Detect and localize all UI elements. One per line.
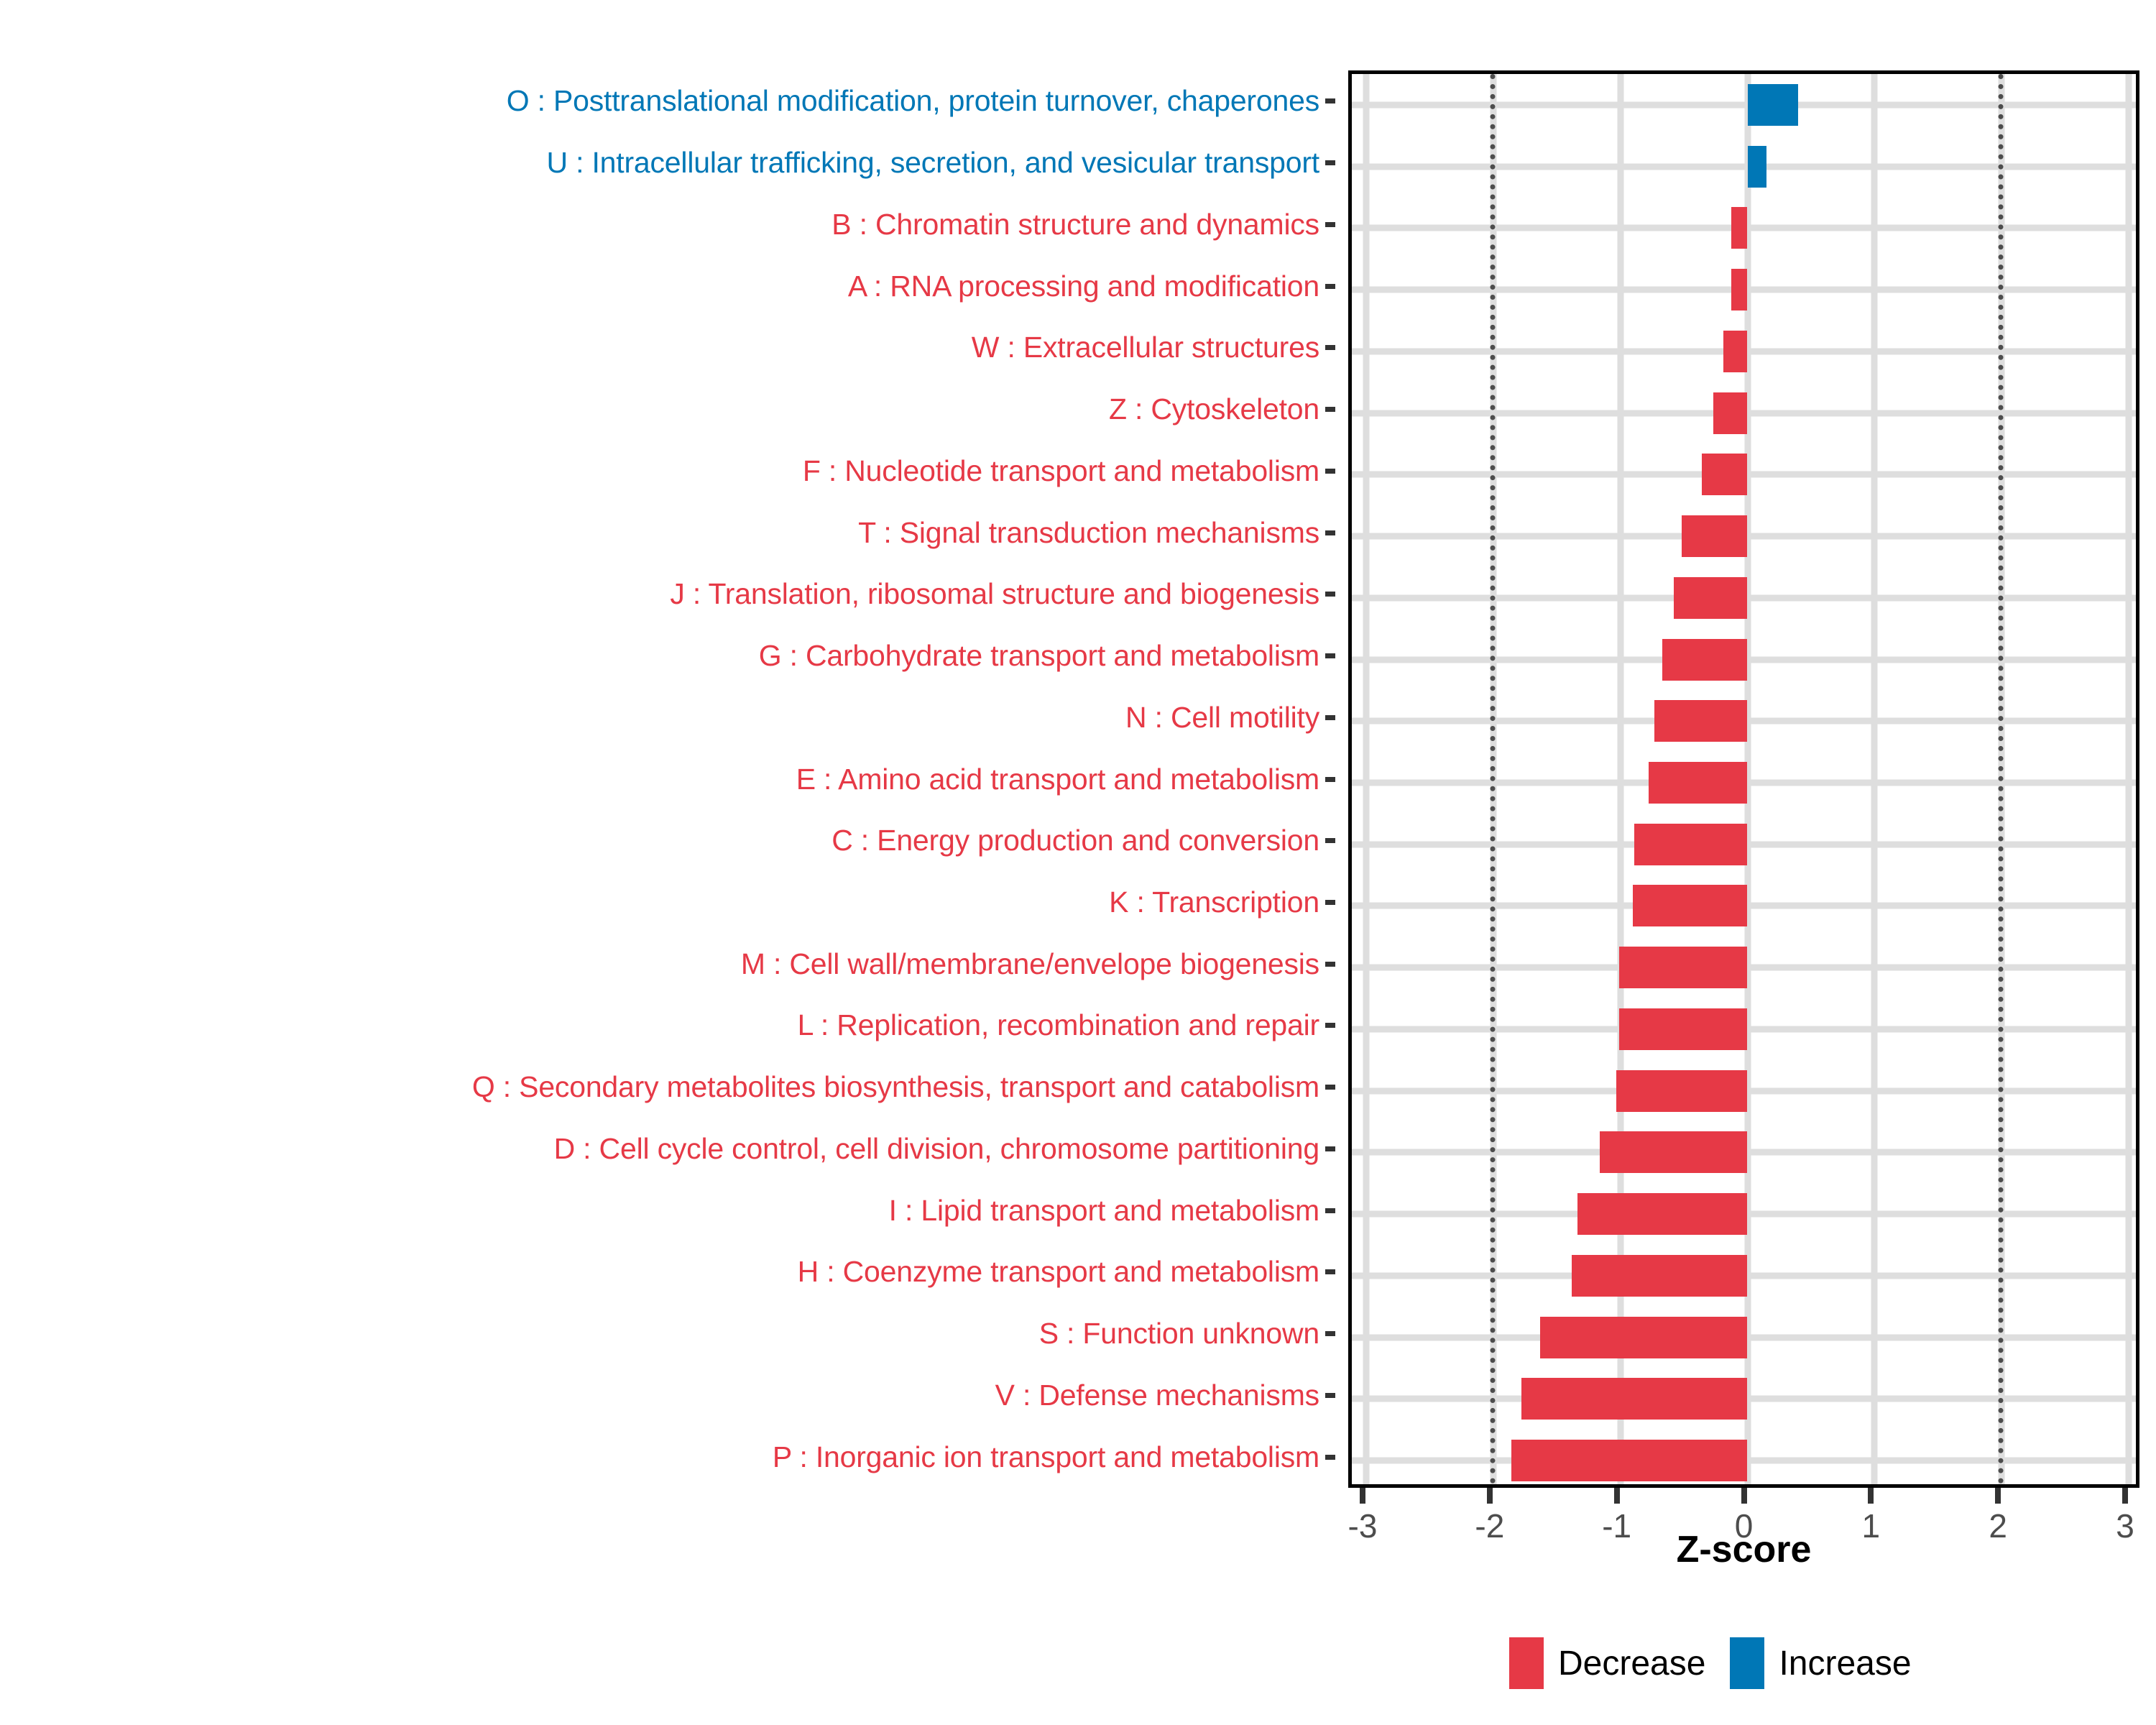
vertical-gridline (1871, 74, 1878, 1484)
bar[interactable] (1619, 1008, 1748, 1050)
bar[interactable] (1654, 700, 1747, 742)
legend-swatch-icon (1509, 1637, 1544, 1689)
chart-root: O : Posttranslational modification, prot… (0, 0, 2156, 1725)
bar[interactable] (1600, 1131, 1747, 1173)
y-axis-tick (1325, 1208, 1335, 1213)
reference-line (1490, 74, 1495, 1484)
y-axis-tick (1325, 469, 1335, 474)
x-axis-tick (1487, 1488, 1493, 1504)
legend-item[interactable]: Decrease (1509, 1637, 1705, 1689)
category-label: Z : Cytoskeleton (1109, 379, 1319, 440)
bar[interactable] (1748, 146, 1767, 188)
y-axis-tick (1325, 900, 1335, 905)
x-axis-tick (1614, 1488, 1620, 1504)
category-label: W : Extracellular structures (972, 317, 1319, 378)
bar[interactable] (1713, 392, 1748, 434)
category-label: L : Replication, recombination and repai… (798, 995, 1319, 1056)
y-axis-tick (1325, 1146, 1335, 1151)
category-label: U : Intracellular trafficking, secretion… (546, 132, 1319, 193)
vertical-gridline (1363, 74, 1370, 1484)
y-axis-tick (1325, 962, 1335, 967)
x-axis-tick (1868, 1488, 1874, 1504)
bar[interactable] (1572, 1255, 1747, 1297)
category-axis-labels: O : Posttranslational modification, prot… (0, 70, 1335, 1488)
category-label: V : Defense mechanisms (995, 1365, 1319, 1426)
bar[interactable] (1649, 762, 1748, 804)
bar[interactable] (1723, 331, 1748, 372)
category-label: I : Lipid transport and metabolism (889, 1180, 1319, 1241)
x-axis-tick (1995, 1488, 2001, 1504)
category-label: P : Inorganic ion transport and metaboli… (773, 1427, 1319, 1488)
y-axis-tick (1325, 1023, 1335, 1028)
y-axis-tick (1325, 160, 1335, 165)
y-axis-tick (1325, 1393, 1335, 1398)
bar[interactable] (1682, 515, 1748, 557)
y-axis-tick (1325, 530, 1335, 535)
bar[interactable] (1731, 269, 1748, 310)
bar[interactable] (1634, 824, 1747, 865)
y-axis-tick (1325, 592, 1335, 597)
x-axis-title: Z-score (1348, 1528, 2139, 1571)
category-label: C : Energy production and conversion (831, 810, 1319, 871)
category-label: J : Translation, ribosomal structure and… (670, 563, 1319, 625)
y-axis-tick (1325, 777, 1335, 782)
bar[interactable] (1662, 639, 1747, 681)
x-axis-tick (2122, 1488, 2128, 1504)
plot-panel (1348, 70, 2139, 1488)
category-label: K : Transcription (1109, 872, 1319, 933)
bar[interactable] (1521, 1378, 1748, 1420)
category-label: G : Carbohydrate transport and metabolis… (759, 625, 1319, 686)
bar[interactable] (1540, 1317, 1747, 1358)
y-axis-tick (1325, 98, 1335, 103)
category-label: O : Posttranslational modification, prot… (507, 70, 1319, 132)
bar[interactable] (1616, 1070, 1747, 1112)
category-label: N : Cell motility (1125, 687, 1319, 748)
category-label: M : Cell wall/membrane/envelope biogenes… (741, 934, 1319, 995)
category-label: T : Signal transduction mechanisms (858, 502, 1319, 563)
bar[interactable] (1731, 207, 1748, 249)
bar[interactable] (1748, 84, 1799, 126)
bar[interactable] (1577, 1193, 1748, 1235)
bar[interactable] (1619, 947, 1748, 988)
y-axis-tick (1325, 1085, 1335, 1090)
legend-label: Increase (1779, 1644, 1911, 1683)
category-label: B : Chromatin structure and dynamics (831, 194, 1319, 255)
y-axis-tick (1325, 838, 1335, 843)
category-label: H : Coenzyme transport and metabolism (798, 1241, 1319, 1302)
category-label: Q : Secondary metabolites biosynthesis, … (472, 1057, 1319, 1118)
bar[interactable] (1633, 885, 1747, 926)
bar[interactable] (1511, 1440, 1748, 1481)
y-axis-tick (1325, 1269, 1335, 1274)
bar[interactable] (1674, 577, 1748, 619)
legend-label: Decrease (1558, 1644, 1705, 1683)
legend-swatch-icon (1730, 1637, 1764, 1689)
category-label: S : Function unknown (1039, 1303, 1319, 1364)
category-label: E : Amino acid transport and metabolism (796, 749, 1319, 810)
reference-line (1999, 74, 2004, 1484)
y-axis-tick (1325, 284, 1335, 289)
chart-legend: DecreaseIncrease (1509, 1637, 1912, 1689)
y-axis-tick (1325, 407, 1335, 412)
bar[interactable] (1702, 454, 1748, 495)
y-axis-tick (1325, 222, 1335, 227)
y-axis-tick (1325, 1455, 1335, 1460)
category-label: F : Nucleotide transport and metabolism (803, 441, 1319, 502)
y-axis-tick (1325, 715, 1335, 720)
vertical-gridline (2126, 74, 2132, 1484)
y-axis-tick (1325, 345, 1335, 350)
legend-item[interactable]: Increase (1730, 1637, 1911, 1689)
y-axis-tick (1325, 653, 1335, 658)
category-label: A : RNA processing and modification (848, 256, 1319, 317)
y-axis-tick (1325, 1331, 1335, 1336)
x-axis-tick (1360, 1488, 1365, 1504)
x-axis-tick (1741, 1488, 1747, 1504)
category-label: D : Cell cycle control, cell division, c… (554, 1118, 1319, 1179)
